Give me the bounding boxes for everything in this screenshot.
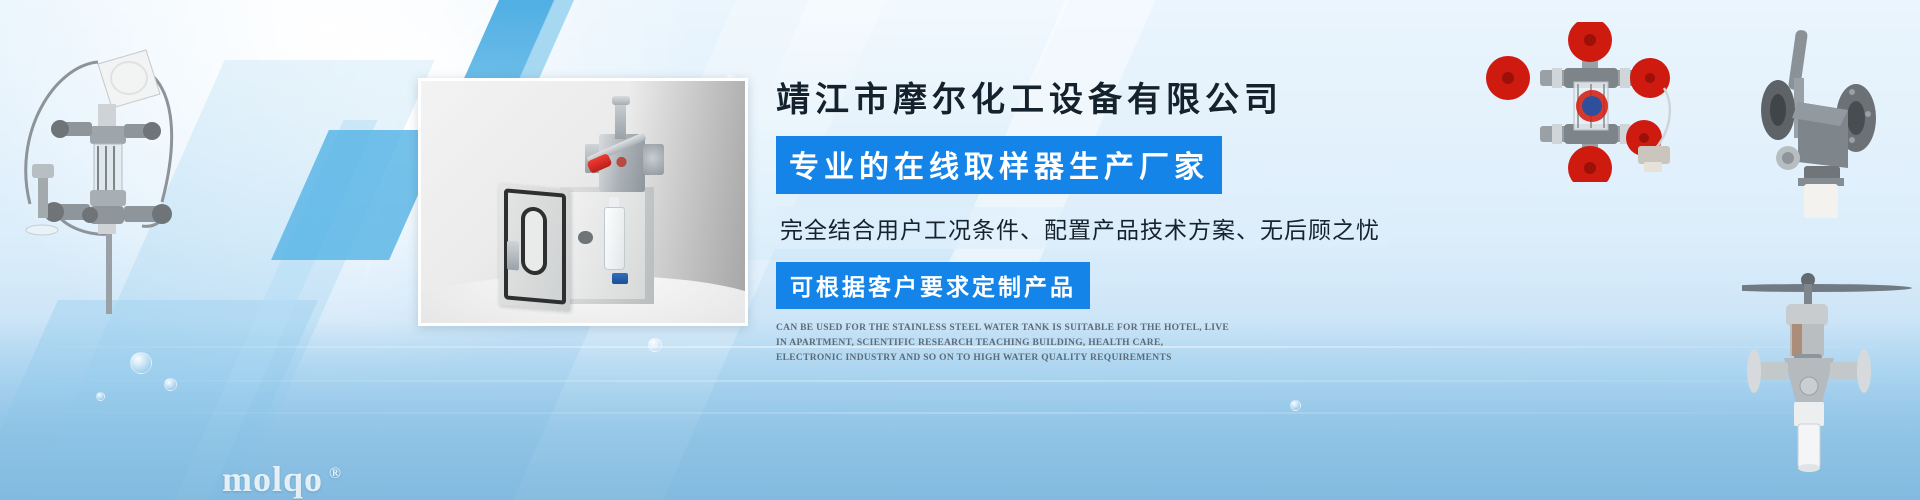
water-droplet: [648, 338, 662, 352]
english-description: CAN BE USED FOR THE STAINLESS STEEL WATE…: [776, 321, 1231, 366]
water-droplet: [96, 392, 105, 401]
left-equipment-image: [0, 14, 199, 314]
watermark-text: molqo: [222, 459, 323, 499]
company-name: 靖江市摩尔化工设备有限公司: [776, 72, 1396, 121]
custom-product-badge: 可根据客户要求定制产品: [776, 262, 1090, 309]
right-upper-equipment-image: [1752, 18, 1920, 218]
water-droplet: [130, 352, 152, 374]
watermark-logo: molqo®: [222, 458, 342, 500]
product-banner: 靖江市摩尔化工设备有限公司 专业的在线取样器生产厂家 完全结合用户工况条件、配置…: [0, 0, 1920, 500]
water-droplet: [164, 378, 177, 391]
center-product-photo: [418, 78, 748, 326]
sub-headline: 完全结合用户工况条件、配置产品技术方案、无后顾之忧: [776, 207, 1388, 249]
right-bottom-equipment-image: [1742, 262, 1920, 500]
right-top-equipment-image: [1478, 22, 1708, 182]
headline-badge: 专业的在线取样器生产厂家: [776, 136, 1222, 194]
text-column: 靖江市摩尔化工设备有限公司 专业的在线取样器生产厂家 完全结合用户工况条件、配置…: [776, 72, 1396, 366]
water-droplet: [1290, 400, 1301, 411]
registered-mark: ®: [329, 465, 342, 482]
